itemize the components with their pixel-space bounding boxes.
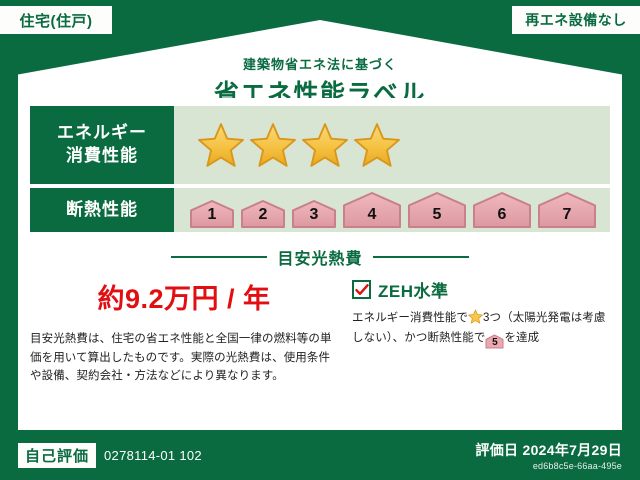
badge-renewable-energy: 再エネ設備なし (512, 6, 640, 34)
cost-heading: 目安光熱費 (30, 245, 610, 269)
cost-amount: 約9.2万円 / 年 (30, 277, 338, 316)
insulation-level-value: 4 (368, 206, 377, 229)
house-icon-inline: 5 (485, 334, 504, 349)
zeh-description: エネルギー消費性能で3つ（太陽光発電は考慮しない）、かつ断熱性能で5を達成 (352, 309, 610, 349)
insulation-level-2: 2 (239, 199, 287, 229)
footer: 自己評価 0278114-01 102 評価日 2024年7月29日 ed6b8… (0, 430, 640, 480)
insulation-level-scale: 1234567 (188, 191, 598, 229)
content-columns: 約9.2万円 / 年 目安光熱費は、住宅の省エネ性能と全国一律の燃料等の単価を用… (30, 275, 610, 386)
rule-left (171, 256, 267, 258)
insulation-level-value: 6 (498, 206, 507, 229)
evaluation-date: 評価日 2024年7月29日 (475, 440, 622, 460)
self-evaluation-badge: 自己評価 (18, 443, 96, 468)
energy-label-line2: 消費性能 (66, 145, 138, 168)
cost-title: 目安光熱費 (267, 245, 372, 269)
star-icon (302, 122, 348, 168)
insulation-level-value: 1 (208, 206, 217, 229)
insulation-performance-row: 断熱性能 1234567 (30, 188, 610, 232)
zeh-column: ZEH水準 エネルギー消費性能で3つ（太陽光発電は考慮しない）、かつ断熱性能で5… (338, 275, 610, 386)
evaluation-id: 0278114-01 102 (104, 448, 202, 463)
insulation-level-6: 6 (471, 191, 533, 229)
energy-performance-row: エネルギー 消費性能 (30, 106, 610, 184)
energy-performance-label: エネルギー 消費性能 (30, 106, 174, 184)
evaluation-hash: ed6b8c5e-66aa-495e (475, 461, 622, 471)
insulation-level-value: 5 (433, 206, 442, 229)
cost-note: 目安光熱費は、住宅の省エネ性能と全国一律の燃料等の単価を用いて算出したものです。… (30, 330, 338, 386)
insulation-level-7: 7 (536, 191, 598, 229)
star-icon (198, 122, 244, 168)
star-icon-inline (468, 309, 483, 324)
check-icon (355, 284, 369, 296)
insulation-level-value: 7 (563, 206, 572, 229)
badge-building-type: 住宅(住戸) (0, 6, 112, 34)
zeh-checkbox (352, 280, 371, 299)
label-subtitle: 建築物省エネ法に基づく (18, 54, 622, 73)
footer-right-group: 評価日 2024年7月29日 ed6b8c5e-66aa-495e (475, 440, 622, 471)
house-inline-level: 5 (492, 337, 498, 348)
insulation-performance-value: 1234567 (174, 188, 610, 232)
insulation-level-1: 1 (188, 199, 236, 229)
cost-column: 約9.2万円 / 年 目安光熱費は、住宅の省エネ性能と全国一律の燃料等の単価を用… (30, 275, 338, 386)
footer-left-group: 自己評価 0278114-01 102 (18, 443, 202, 468)
star-icon (250, 122, 296, 168)
zeh-desc-part3: を達成 (504, 332, 539, 344)
insulation-level-value: 2 (259, 206, 268, 229)
zeh-desc-part1: エネルギー消費性能で (352, 312, 468, 324)
insulation-level-value: 3 (310, 206, 319, 229)
zeh-title: ZEH水準 (378, 277, 449, 302)
energy-performance-value (174, 106, 610, 184)
insulation-performance-label: 断熱性能 (30, 188, 174, 232)
insulation-level-4: 4 (341, 191, 403, 229)
star-icon (354, 122, 400, 168)
star-rating (198, 122, 400, 168)
label-card: エネルギー 消費性能 断熱性能 1234567 目安光熱費 約9.2万円 / 年… (18, 98, 622, 430)
zeh-heading: ZEH水準 (352, 277, 610, 302)
rule-right (373, 256, 469, 258)
insulation-level-5: 5 (406, 191, 468, 229)
energy-label-line1: エネルギー (57, 122, 147, 145)
insulation-level-3: 3 (290, 199, 338, 229)
